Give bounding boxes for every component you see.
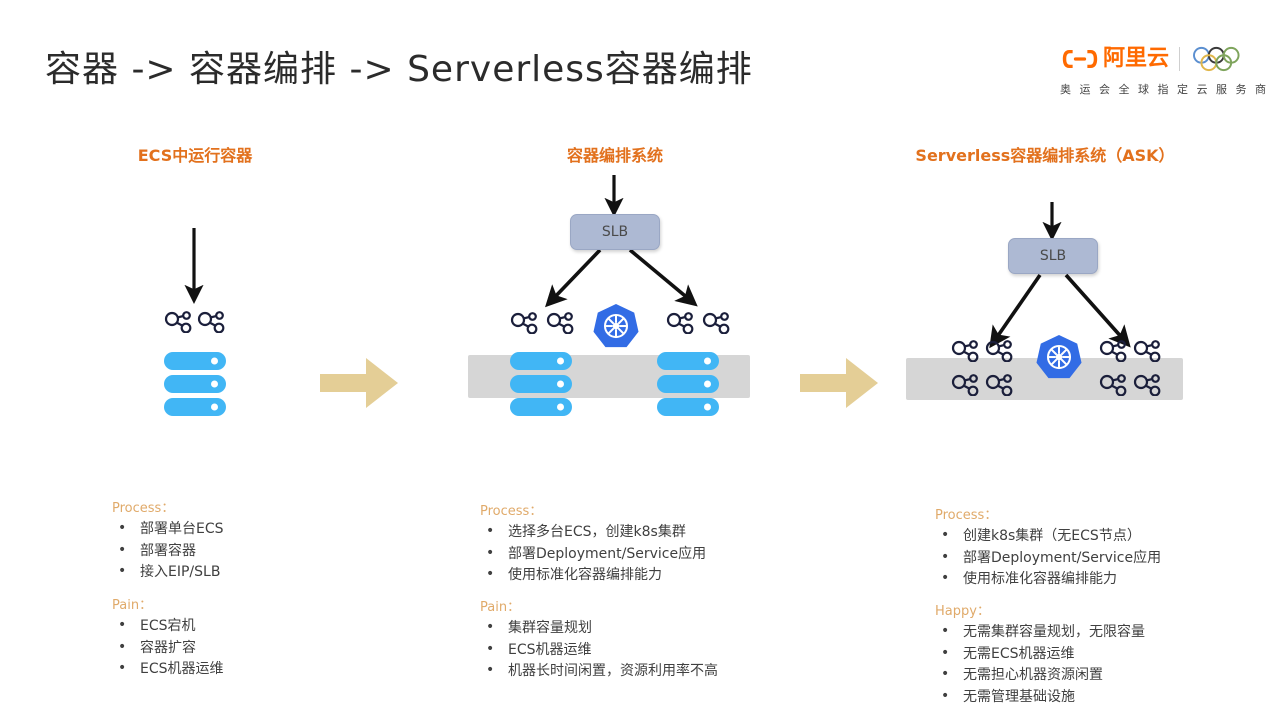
- pain-block-col1: Pain： ECS宕机容器扩容ECS机器运维: [112, 594, 224, 681]
- slb-node: SLB: [570, 214, 660, 250]
- bullet-list: 创建k8s集群（无ECS节点）部署Deployment/Service应用使用标…: [935, 526, 1161, 591]
- block-label: Process：: [112, 497, 224, 516]
- list-item: 使用标准化容器编排能力: [935, 569, 1161, 591]
- transition-arrow-icon: [318, 352, 400, 414]
- kubernetes-logo-icon: [593, 303, 639, 351]
- block-label: Happy：: [935, 600, 1145, 619]
- container-cluster-icon: [545, 312, 575, 334]
- list-item: 集群容量规划: [480, 618, 718, 640]
- server-unit: [510, 352, 572, 370]
- container-cluster-icon: [509, 312, 539, 334]
- list-item: 部署容器: [112, 541, 224, 563]
- block-label: Process：: [935, 504, 1161, 523]
- container-cluster-icon: [196, 311, 226, 333]
- list-item: 无需担心机器资源闲置: [935, 665, 1145, 687]
- list-item: 机器长时间闲置，资源利用率不高: [480, 661, 718, 683]
- server-unit: [510, 398, 572, 416]
- list-item: 部署Deployment/Service应用: [935, 548, 1161, 570]
- slide-root: 容器 -> 容器编排 -> Serverless容器编排 阿里云: [0, 0, 1280, 720]
- server-stack-icon: [657, 352, 719, 421]
- server-unit: [164, 352, 226, 370]
- container-cluster-icon: [950, 374, 980, 396]
- list-item: 无需管理基础设施: [935, 687, 1145, 709]
- bullet-list: ECS宕机容器扩容ECS机器运维: [112, 616, 224, 681]
- container-cluster-icon: [1098, 340, 1128, 362]
- bullet-list: 无需集群容量规划，无限容量无需ECS机器运维无需担心机器资源闲置无需管理基础设施: [935, 622, 1145, 708]
- bullet-list: 集群容量规划ECS机器运维机器长时间闲置，资源利用率不高: [480, 618, 718, 683]
- server-unit: [164, 398, 226, 416]
- container-cluster-icon: [984, 340, 1014, 362]
- container-cluster-icon: [701, 312, 731, 334]
- kubernetes-logo-icon: [1036, 334, 1082, 382]
- server-unit: [510, 375, 572, 393]
- list-item: 部署单台ECS: [112, 519, 224, 541]
- server-unit: [657, 398, 719, 416]
- bullet-list: 部署单台ECS部署容器接入EIP/SLB: [112, 519, 224, 584]
- container-cluster-icon: [1132, 374, 1162, 396]
- list-item: 无需ECS机器运维: [935, 644, 1145, 666]
- list-item: 使用标准化容器编排能力: [480, 565, 706, 587]
- server-unit: [164, 375, 226, 393]
- bullet-list: 选择多台ECS，创建k8s集群部署Deployment/Service应用使用标…: [480, 522, 706, 587]
- list-item: ECS宕机: [112, 616, 224, 638]
- container-cluster-icon: [984, 374, 1014, 396]
- server-stack-icon: [510, 352, 572, 421]
- container-cluster-icon: [950, 340, 980, 362]
- process-block-col3: Process： 创建k8s集群（无ECS节点）部署Deployment/Ser…: [935, 504, 1161, 591]
- container-cluster-icon: [1132, 340, 1162, 362]
- server-stack-icon: [164, 352, 226, 421]
- process-block-col1: Process： 部署单台ECS部署容器接入EIP/SLB: [112, 497, 224, 584]
- block-label: Pain：: [112, 594, 224, 613]
- list-item: 无需集群容量规划，无限容量: [935, 622, 1145, 644]
- list-item: 接入EIP/SLB: [112, 562, 224, 584]
- block-label: Process：: [480, 500, 706, 519]
- container-cluster-icon: [665, 312, 695, 334]
- server-unit: [657, 375, 719, 393]
- container-cluster-icon: [1098, 374, 1128, 396]
- process-block-col2: Process： 选择多台ECS，创建k8s集群部署Deployment/Ser…: [480, 500, 706, 587]
- happy-block-col3: Happy： 无需集群容量规划，无限容量无需ECS机器运维无需担心机器资源闲置无…: [935, 600, 1145, 708]
- server-unit: [657, 352, 719, 370]
- list-item: 选择多台ECS，创建k8s集群: [480, 522, 706, 544]
- list-item: ECS机器运维: [480, 640, 718, 662]
- pain-block-col2: Pain： 集群容量规划ECS机器运维机器长时间闲置，资源利用率不高: [480, 596, 718, 683]
- list-item: ECS机器运维: [112, 659, 224, 681]
- slb-node: SLB: [1008, 238, 1098, 274]
- block-label: Pain：: [480, 596, 718, 615]
- container-cluster-icon: [163, 311, 193, 333]
- list-item: 创建k8s集群（无ECS节点）: [935, 526, 1161, 548]
- transition-arrow-icon: [798, 352, 880, 414]
- list-item: 容器扩容: [112, 638, 224, 660]
- list-item: 部署Deployment/Service应用: [480, 544, 706, 566]
- diagram-area: SLB: [0, 0, 1280, 470]
